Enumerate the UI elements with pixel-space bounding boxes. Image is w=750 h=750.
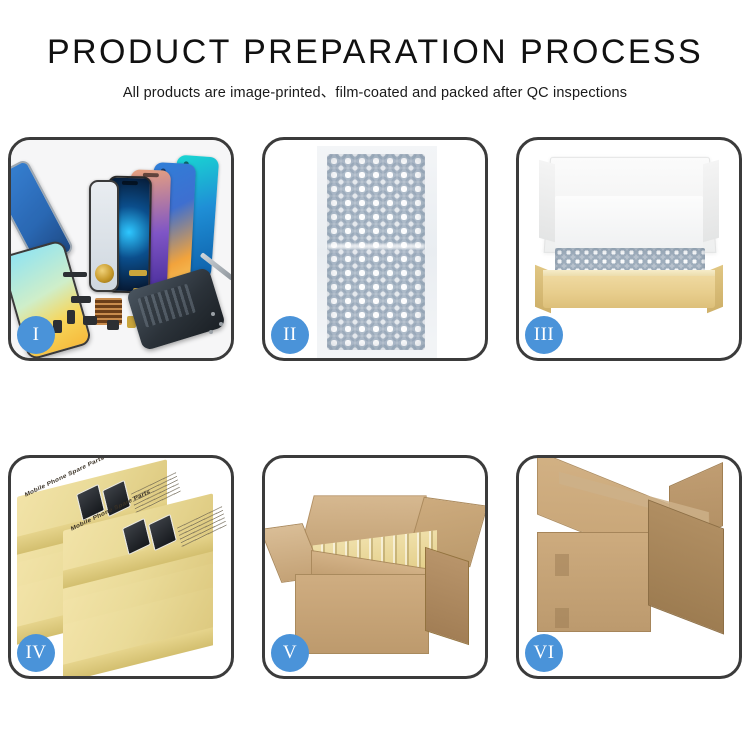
process-step-panel-1: I <box>8 137 234 361</box>
page-title: PRODUCT PREPARATION PROCESS <box>0 30 750 74</box>
connector-part-icon-2 <box>67 310 75 324</box>
step-badge-1: I <box>17 316 55 354</box>
connector-part-icon-1 <box>71 296 91 303</box>
process-step-panel-6: VI <box>516 455 742 679</box>
process-step-panel-3: III <box>516 137 742 361</box>
process-step-grid: I II III <box>8 137 742 679</box>
step-badge-6: VI <box>525 634 563 672</box>
flex-cable-part-icon-1 <box>129 270 147 276</box>
process-step-panel-2: II <box>262 137 488 361</box>
carton-side-panel <box>425 547 469 645</box>
carton-front-panel <box>295 574 429 654</box>
process-step-panel-5: V <box>262 455 488 679</box>
header: PRODUCT PREPARATION PROCESS All products… <box>0 0 750 104</box>
page-subtitle: All products are image-printed、film-coat… <box>0 82 750 104</box>
step-badge-4: IV <box>17 634 55 672</box>
box-front-panel <box>543 276 715 308</box>
step-badge-5: V <box>271 634 309 672</box>
step-badge-3: III <box>525 316 563 354</box>
connector-part-icon-3 <box>83 316 97 325</box>
speaker-coil-part-icon <box>95 264 114 283</box>
foam-insert <box>555 196 703 248</box>
camera-module-part-icon <box>107 320 119 330</box>
process-step-panel-4: Mobile Phone Spare Parts Mobile Phone Sp… <box>8 455 234 679</box>
step-badge-2: II <box>271 316 309 354</box>
earpiece-part-icon <box>63 272 87 277</box>
